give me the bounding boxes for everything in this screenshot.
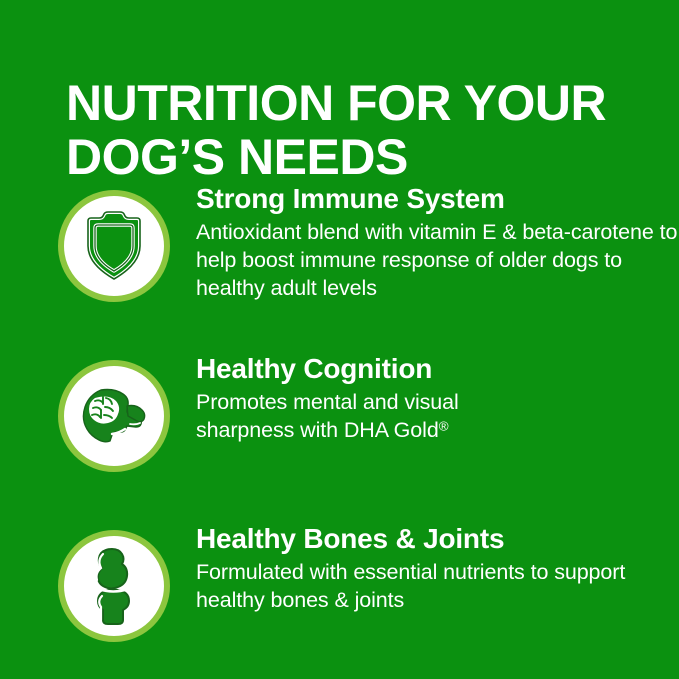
shield-icon [78, 208, 150, 284]
page-title-text: NUTRITION FOR YOUR [66, 75, 606, 131]
feature-item-healthy-cognition: Healthy Cognition Promotes mental and vi… [0, 346, 679, 472]
page-title: NUTRITION FOR YOUR DOG’S NEEDS [66, 76, 626, 184]
feature-description: Formulated with essential nutrients to s… [196, 558, 679, 614]
feature-item-strong-immune-system: Strong Immune System Antioxidant blend w… [0, 176, 679, 302]
feature-heading: Healthy Bones & Joints [196, 522, 679, 556]
feature-text-block: Healthy Cognition Promotes mental and vi… [170, 346, 679, 444]
nutrition-benefits-poster: NUTRITION FOR YOUR DOG’S NEEDS Strong Im… [0, 0, 679, 679]
feature-item-healthy-bones-joints: Healthy Bones & Joints Formulated with e… [0, 516, 679, 642]
registered-trademark-symbol: ® [439, 418, 449, 433]
feature-heading: Healthy Cognition [196, 352, 679, 386]
feature-text-block: Healthy Bones & Joints Formulated with e… [170, 516, 679, 614]
feature-list: Strong Immune System Antioxidant blend w… [0, 176, 679, 642]
feature-icon-badge [58, 530, 170, 642]
dog-head-brain-icon [78, 383, 150, 449]
feature-text-block: Strong Immune System Antioxidant blend w… [170, 176, 679, 302]
feature-description-text: Promotes mental and visual sharpness wit… [196, 390, 459, 442]
feature-heading: Strong Immune System [196, 182, 679, 216]
feature-icon-badge [58, 190, 170, 302]
feature-icon-badge [58, 360, 170, 472]
feature-description: Antioxidant blend with vitamin E & beta-… [196, 218, 679, 302]
bone-joint-icon [84, 546, 144, 626]
feature-description: Promotes mental and visual sharpness wit… [196, 388, 679, 444]
